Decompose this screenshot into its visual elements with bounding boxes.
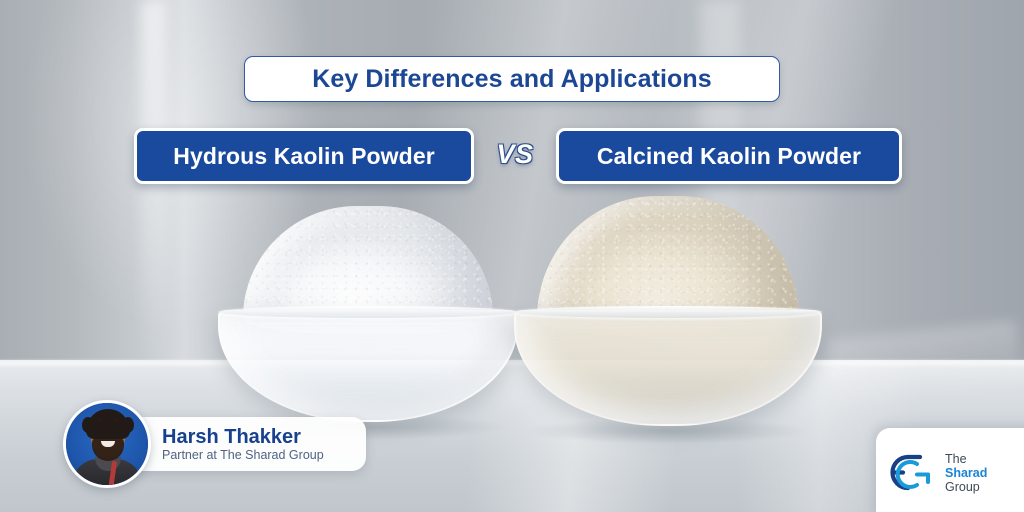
comparison-left-pill[interactable]: Hydrous Kaolin Powder	[134, 128, 474, 184]
page-title-pill: Key Differences and Applications	[244, 56, 780, 102]
logo-line-sharad: Sharad	[945, 466, 987, 480]
presenter-role: Partner at The Sharad Group	[162, 448, 366, 463]
comparison-right-pill[interactable]: Calcined Kaolin Powder	[556, 128, 902, 184]
presenter-name: Harsh Thakker	[162, 426, 366, 448]
left-glass-bowl	[218, 310, 518, 422]
avatar-eye-left	[98, 419, 102, 422]
logo-line-group: Group	[945, 480, 987, 494]
infographic-canvas: Key Differences and Applications Hydrous…	[0, 0, 1024, 512]
right-glass-bowl	[514, 310, 822, 426]
avatar-eye-right	[114, 419, 118, 422]
page-title: Key Differences and Applications	[312, 65, 712, 94]
right-bowl-group	[514, 196, 822, 440]
left-bowl-group	[218, 206, 518, 436]
versus-label: VS	[488, 139, 542, 170]
brand-logo-card[interactable]: The Sharad Group	[876, 428, 1024, 512]
logo-line-the: The	[945, 452, 987, 466]
bowl-rim	[218, 306, 518, 318]
sharad-g-monogram-icon	[886, 448, 936, 498]
bowl-rim	[514, 306, 822, 318]
brand-logo-text: The Sharad Group	[945, 452, 987, 494]
comparison-left-label: Hydrous Kaolin Powder	[173, 143, 435, 170]
comparison-right-label: Calcined Kaolin Powder	[597, 143, 861, 170]
person-avatar-icon	[63, 400, 151, 488]
